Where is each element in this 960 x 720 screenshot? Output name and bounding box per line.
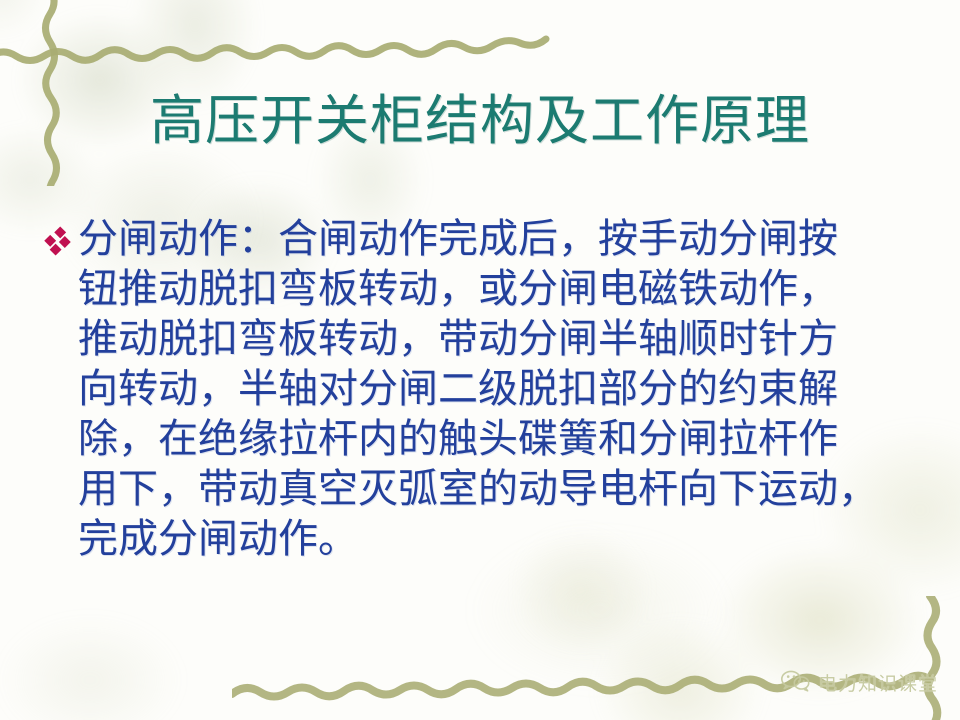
slide-title: 高压开关柜结构及工作原理	[0, 88, 960, 154]
diamond-cluster-bullet-icon	[38, 214, 78, 256]
body-text-line: 除，在绝缘拉杆内的触头碟簧和分闸拉杆作	[78, 414, 922, 464]
body-text-line: 向转动，半轴对分闸二级脱扣部分的约束解	[78, 364, 922, 414]
body-text-line: 完成分闸动作。	[78, 514, 922, 564]
body-text-line: 推动脱扣弯板转动，带动分闸半轴顺时针方	[78, 314, 922, 364]
body-text-block: 分闸动作：合闸动作完成后，按手动分闸按 钮推动脱扣弯板转动，或分闸电磁铁动作， …	[78, 214, 922, 564]
watermark: 电力知识课堂	[780, 668, 938, 696]
body-text-line: 分闸动作：合闸动作完成后，按手动分闸按	[78, 214, 922, 264]
watermark-label: 电力知识课堂	[818, 669, 938, 696]
body-text-line: 用下，带动真空灭弧室的动导电杆向下运动，	[78, 464, 922, 514]
bullet-paragraph: 分闸动作：合闸动作完成后，按手动分闸按 钮推动脱扣弯板转动，或分闸电磁铁动作， …	[38, 214, 922, 564]
bamboo-branch-bottom-horizontal-icon	[232, 666, 960, 718]
presentation-slide: 高压开关柜结构及工作原理 分闸动作：合闸动作完成后，按手动分闸按 钮推动脱扣弯板…	[0, 0, 960, 720]
body-text-line: 钮推动脱扣弯板转动，或分闸电磁铁动作，	[78, 264, 922, 314]
bamboo-branch-right-vertical-icon	[900, 596, 960, 720]
bamboo-branch-top-horizontal-icon	[0, 28, 608, 84]
wechat-logo-icon	[780, 668, 810, 696]
